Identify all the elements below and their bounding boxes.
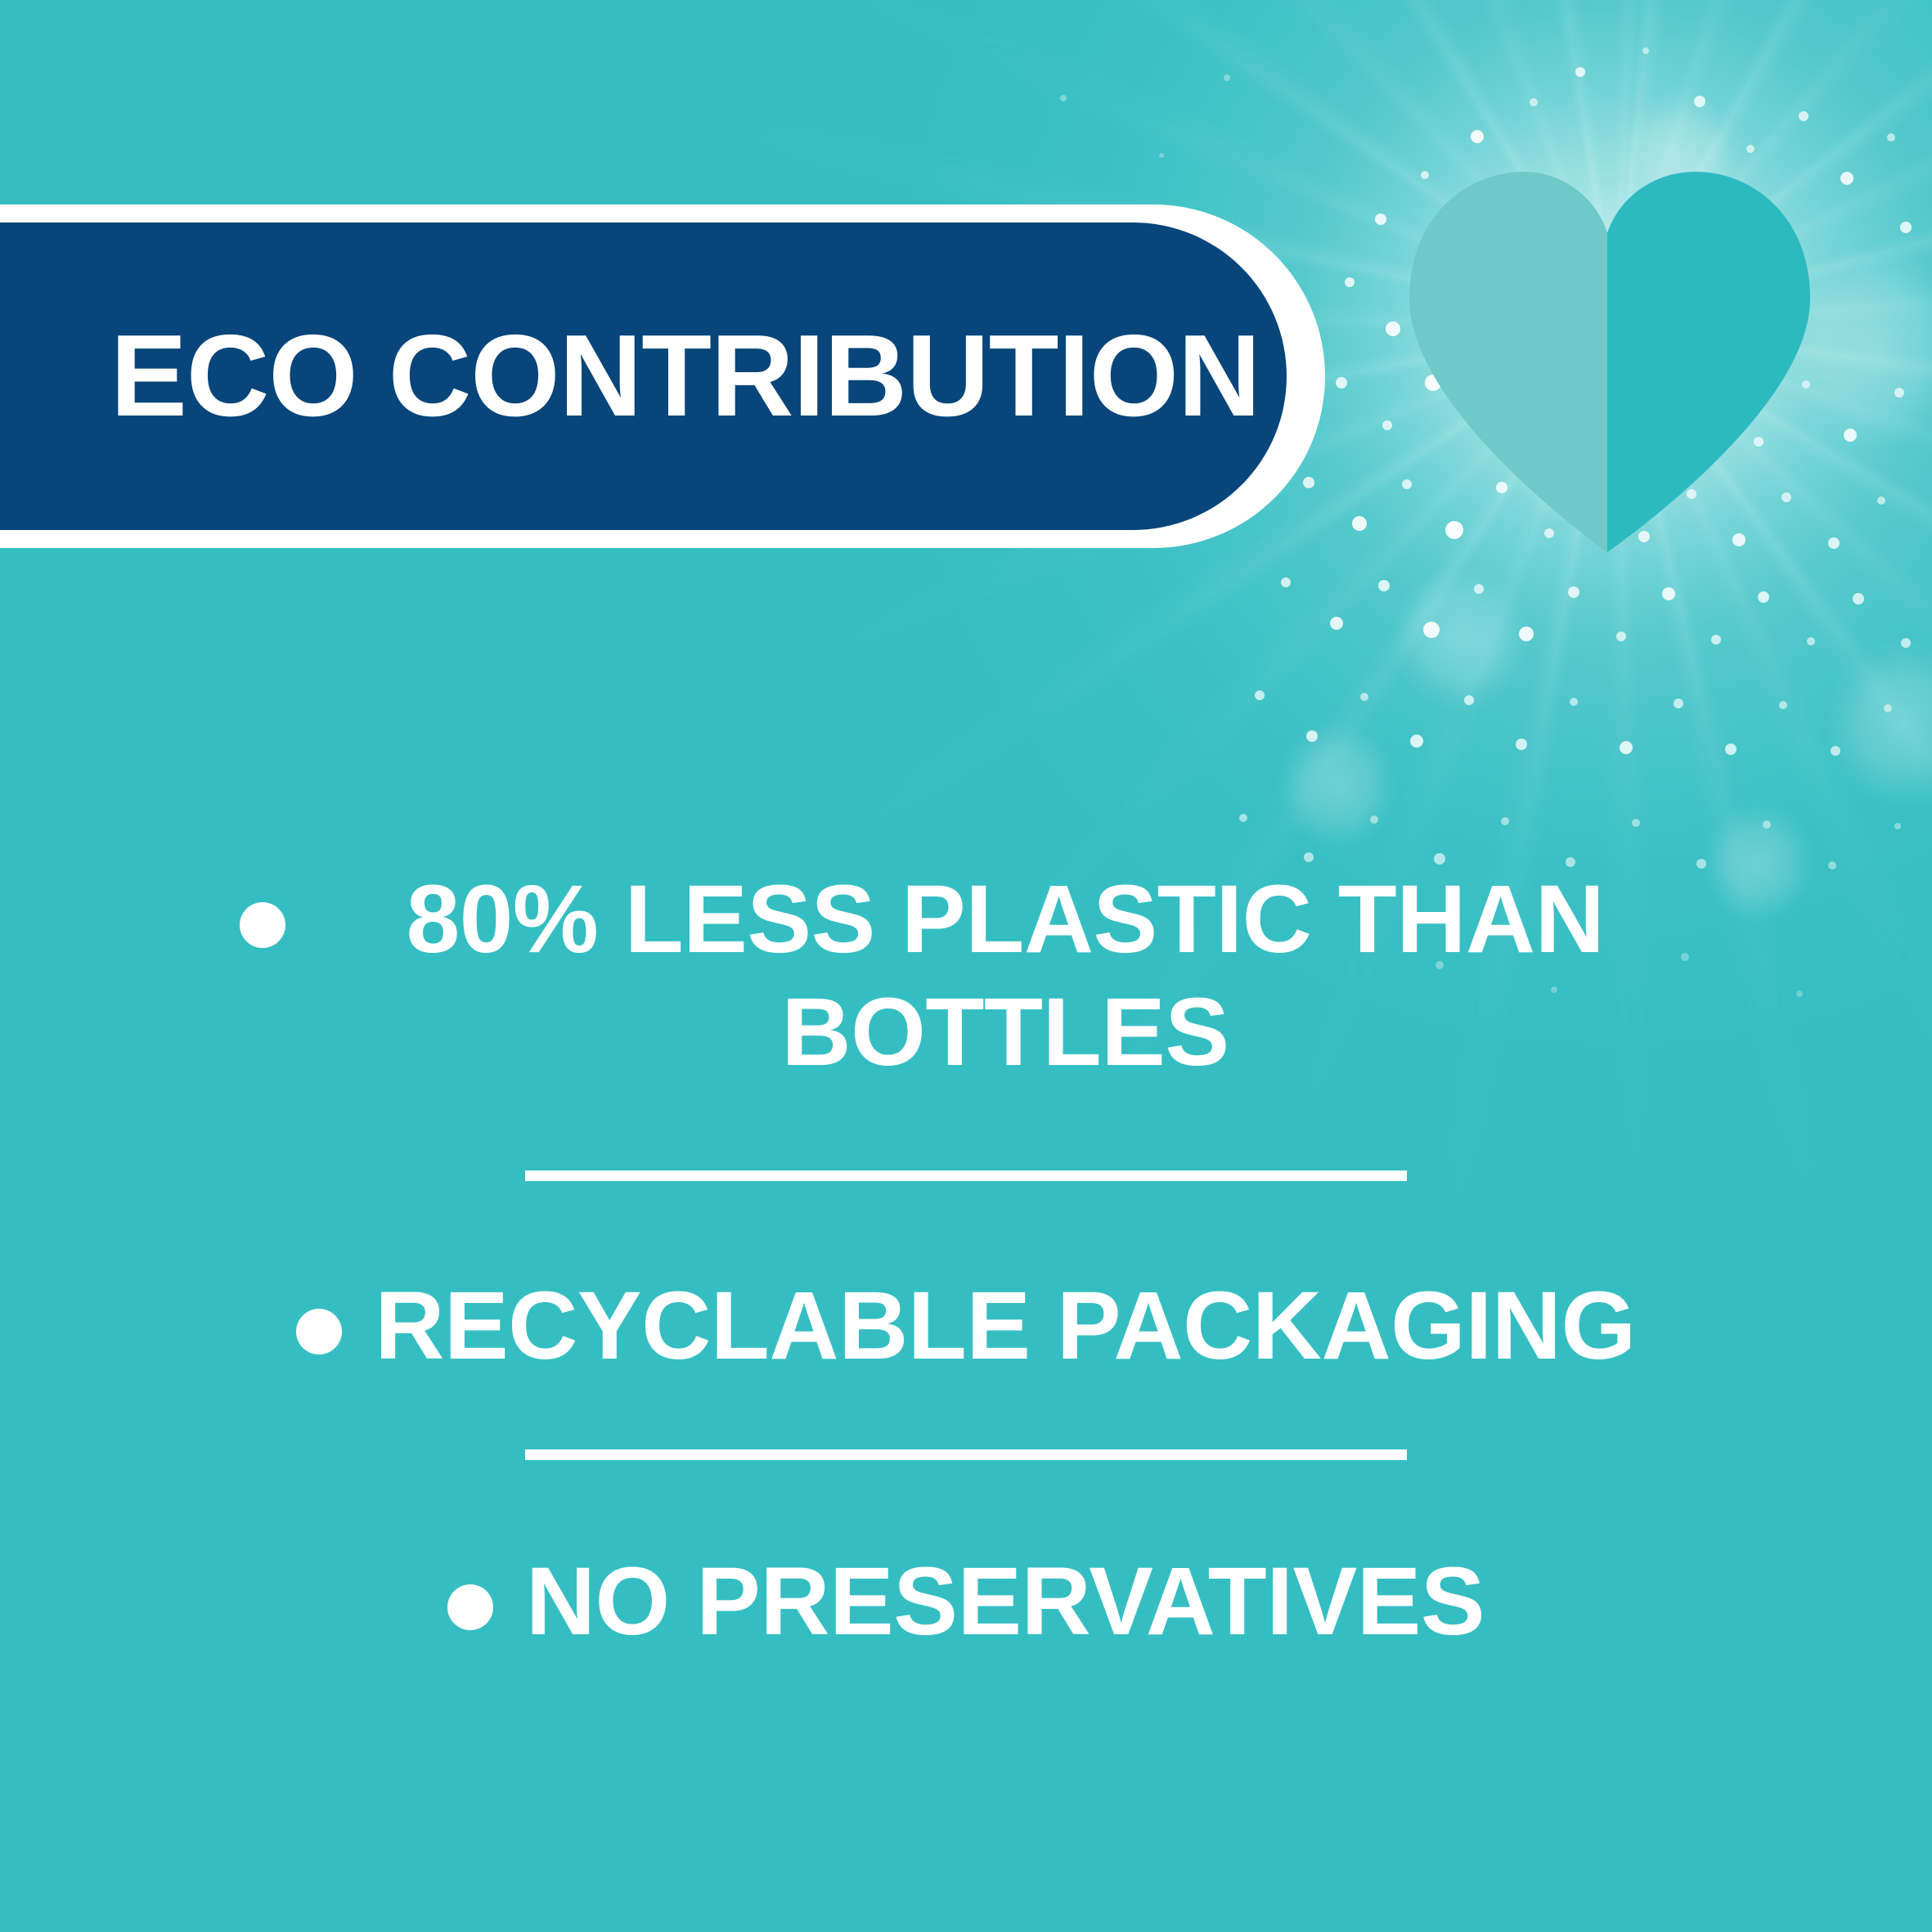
bullet-dot-icon — [447, 1584, 493, 1630]
feature-item-preservatives: NO PRESERVATIVES — [0, 1545, 1932, 1658]
heart-left-lobe — [1409, 172, 1607, 552]
bokeh-circle — [1391, 564, 1530, 712]
feature-label: NO PRESERVATIVES — [526, 1545, 1485, 1658]
feature-divider — [525, 1449, 1407, 1460]
heart-icon — [1401, 168, 1818, 552]
feature-divider — [525, 1170, 1407, 1181]
page-title: ECO CONTRIBUTION — [110, 318, 1260, 434]
heart-right-lobe — [1607, 172, 1810, 552]
bullet-dot-icon — [296, 1309, 342, 1355]
eco-contribution-poster: ECO CONTRIBUTION 80% LESS PLASTIC THAN B… — [0, 0, 1932, 1932]
eco-contribution-banner: ECO CONTRIBUTION — [0, 222, 1287, 530]
bullet-dot-icon — [240, 902, 285, 948]
bokeh-circle — [1276, 720, 1399, 851]
feature-item-packaging: RECYCLABLE PACKAGING — [0, 1269, 1932, 1382]
feature-label: RECYCLABLE PACKAGING — [375, 1269, 1636, 1382]
feature-label: 80% LESS PLASTIC THAN BOTTLES — [318, 863, 1692, 1089]
feature-item-plastic: 80% LESS PLASTIC THAN BOTTLES — [0, 863, 1932, 1089]
feature-list: 80% LESS PLASTIC THAN BOTTLES RECYCLABLE… — [0, 863, 1932, 1658]
bokeh-circle — [1824, 638, 1932, 810]
